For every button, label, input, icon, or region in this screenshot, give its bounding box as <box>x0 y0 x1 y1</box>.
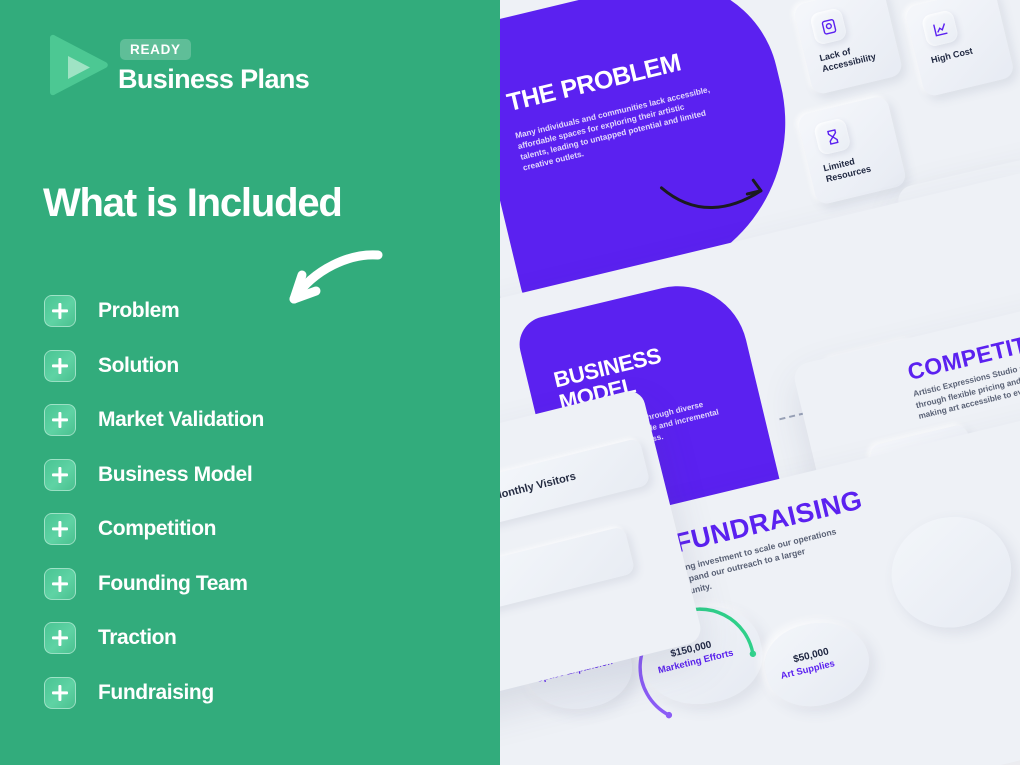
plus-icon <box>44 568 76 600</box>
plus-icon <box>44 295 76 327</box>
problem-card-label: Limited Resources <box>822 147 895 184</box>
poster-root: Drop-in Fees Creation Workshops THE PROB… <box>0 0 1020 765</box>
decorative-disc <box>880 505 1020 640</box>
hourglass-icon <box>813 117 852 156</box>
accessibility-icon <box>809 7 848 46</box>
list-item-label: Problem <box>98 299 179 323</box>
problem-card-accessibility[interactable]: Lack of Accessibility <box>793 0 904 96</box>
page-title: What is Included <box>43 183 342 223</box>
brand-text-block: READY Business Plans <box>118 37 309 94</box>
list-item[interactable]: Founding Team <box>44 557 464 612</box>
plus-icon <box>44 513 76 545</box>
plus-icon <box>44 404 76 436</box>
brand-lockup: READY Business Plans <box>44 34 309 96</box>
plus-icon <box>44 622 76 654</box>
problem-card-high-cost[interactable]: High Cost <box>904 0 1015 98</box>
list-item-label: Traction <box>98 626 176 650</box>
left-green-panel: READY Business Plans What is Included Pr… <box>0 0 500 765</box>
ready-badge: READY <box>120 39 191 61</box>
plus-icon <box>44 350 76 382</box>
play-triangle-icon <box>44 34 110 96</box>
list-item[interactable]: Traction <box>44 611 464 666</box>
list-item[interactable]: Solution <box>44 339 464 394</box>
problem-card-limited-resources[interactable]: Limited Resources <box>797 95 908 206</box>
problem-card-label: Lack of Accessibility <box>818 37 891 74</box>
list-item-label: Solution <box>98 354 179 378</box>
list-item-label: Market Validation <box>98 408 264 432</box>
list-item[interactable]: Competition <box>44 502 464 557</box>
list-item-label: Business Model <box>98 463 252 487</box>
plus-icon <box>44 459 76 491</box>
included-feature-list: Problem Solution Market Validation Busin… <box>44 284 464 720</box>
list-item-label: Fundraising <box>98 681 214 705</box>
brand-title: Business Plans <box>118 65 309 93</box>
stat-card <box>498 526 635 614</box>
list-item[interactable]: Problem <box>44 284 464 339</box>
list-item[interactable]: Fundraising <box>44 666 464 721</box>
list-item-label: Competition <box>98 517 216 541</box>
list-item[interactable]: Market Validation <box>44 393 464 448</box>
list-item[interactable]: Business Model <box>44 448 464 503</box>
list-item-label: Founding Team <box>98 572 248 596</box>
plus-icon <box>44 677 76 709</box>
chart-up-icon <box>921 9 960 48</box>
slides-showcase: Drop-in Fees Creation Workshops THE PROB… <box>498 0 1020 765</box>
